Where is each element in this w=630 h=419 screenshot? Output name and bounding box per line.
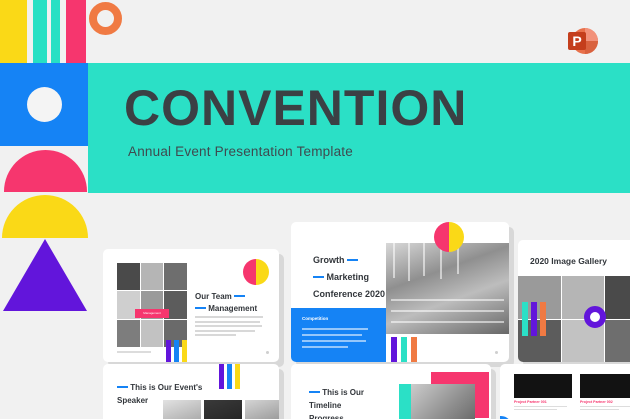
decor-mini-bars xyxy=(166,340,187,362)
decor-mini-bars xyxy=(219,364,240,389)
teal-accent-bar xyxy=(399,384,411,419)
slide-page-number xyxy=(495,351,498,354)
partner-card: Project Partner 001 xyxy=(514,374,572,412)
dash-icon xyxy=(313,276,324,278)
teal-vertical-bar-2 xyxy=(51,0,60,64)
competition-panel: Competition xyxy=(291,308,386,362)
slide-thumbnail-project-partners[interactable]: Project Partner 001 Project Partner 002 … xyxy=(500,364,630,419)
slide-heading: Our Team Management xyxy=(195,291,257,314)
speaker-portrait: Speaker 01 xyxy=(163,400,201,419)
decor-mini-bars xyxy=(522,302,546,336)
slide-heading: This is Our Timeline Progress xyxy=(309,386,364,419)
slide-heading-line3: Progress xyxy=(309,414,344,419)
partner-card: Project Partner 002 xyxy=(580,374,630,412)
hero-banner: CONVENTION Annual Event Presentation Tem… xyxy=(88,63,630,193)
slide-heading-line2: Marketing xyxy=(327,272,370,282)
teal-vertical-bar xyxy=(33,0,47,64)
partner-photo xyxy=(514,374,572,398)
competition-panel-title: Competition xyxy=(302,316,328,321)
partner-caption: Project Partner 001 xyxy=(514,400,572,404)
conference-photo xyxy=(386,243,509,334)
template-preview-canvas: CONVENTION Annual Event Presentation Tem… xyxy=(0,0,630,419)
purple-ring-icon xyxy=(584,306,606,328)
slide-heading-line2: Management xyxy=(208,304,257,313)
slide-body-text xyxy=(195,316,263,339)
page-subtitle: Annual Event Presentation Template xyxy=(128,144,353,159)
slide-heading-line1: Growth xyxy=(313,255,345,265)
slide-heading-line2: Speaker xyxy=(117,396,148,405)
pink-half-circle xyxy=(4,150,87,192)
partner-caption: Project Partner 002 xyxy=(580,400,630,404)
slide-heading-line2: Timeline xyxy=(309,401,341,410)
slide-footnote xyxy=(117,351,151,353)
yellow-vertical-bar xyxy=(0,0,27,64)
purple-triangle xyxy=(3,239,87,311)
white-circle-icon xyxy=(27,87,62,122)
partner-card-grid: Project Partner 001 Project Partner 002 … xyxy=(514,374,630,419)
slide-heading-line1: Our Team xyxy=(195,292,232,301)
slide-thumbnail-our-team[interactable]: Management Our Team Management xyxy=(103,249,279,362)
team-photo-grid xyxy=(117,263,187,347)
slide-heading-line3: Conference 2020 xyxy=(313,289,385,299)
dash-icon xyxy=(117,386,128,388)
slide-heading-line1: This is Our xyxy=(322,388,364,397)
slide-heading: 2020 Image Gallery xyxy=(530,256,607,266)
partner-photo xyxy=(580,374,630,398)
team-tag: Management xyxy=(135,309,169,318)
slide-heading: Growth Marketing Conference 2020 xyxy=(313,252,385,303)
slide-heading-line1: This is Our Event's xyxy=(130,383,202,392)
dash-icon xyxy=(234,295,245,297)
svg-text:P: P xyxy=(572,33,581,49)
slide-thumbnail-event-speaker[interactable]: This is Our Event's Speaker Speaker 01 S… xyxy=(103,364,279,419)
speaker-portrait: Speaker 03 xyxy=(245,400,279,419)
slide-thumbnail-timeline-progress[interactable]: This is Our Timeline Progress xyxy=(291,364,491,419)
page-title: CONVENTION xyxy=(124,83,467,133)
dash-icon xyxy=(347,259,358,261)
timeline-photo-top xyxy=(411,384,475,419)
slide-page-number xyxy=(266,351,269,354)
decor-mini-bars xyxy=(391,337,417,362)
blue-square xyxy=(0,63,88,146)
dash-icon xyxy=(309,391,320,393)
orange-ring-icon xyxy=(89,2,122,35)
pink-vertical-bar xyxy=(66,0,86,64)
powerpoint-icon: P xyxy=(561,25,601,59)
decor-half-circles xyxy=(243,259,269,285)
decor-half-circles xyxy=(434,222,464,252)
dash-icon xyxy=(195,307,206,309)
slide-thumbnail-growth-marketing[interactable]: Growth Marketing Conference 2020 Competi… xyxy=(291,222,509,362)
speaker-portrait: Speaker 02 xyxy=(204,400,242,419)
yellow-half-circle xyxy=(2,195,88,238)
slide-thumbnail-image-gallery[interactable]: 2020 Image Gallery xyxy=(518,240,630,362)
